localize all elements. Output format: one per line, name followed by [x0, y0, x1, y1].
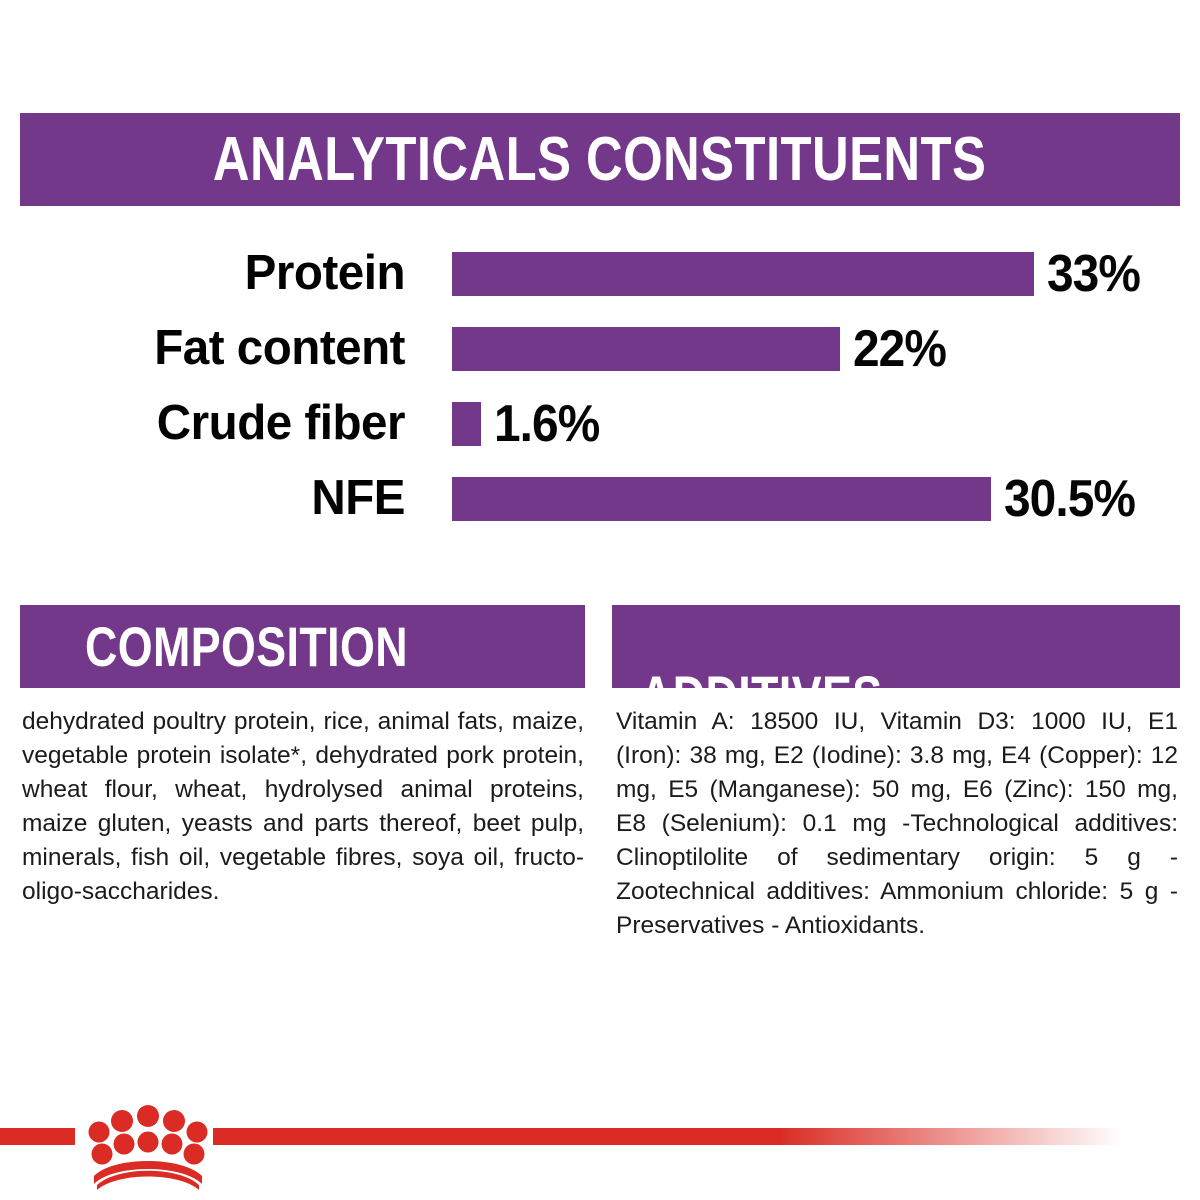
bar-zone: 1.6%	[452, 394, 609, 454]
bar-zone: 30.5%	[452, 469, 1146, 529]
analyticals-constituents-title: ANALYTICALS CONSTITUENTS	[213, 124, 986, 195]
composition-header: COMPOSITION	[20, 605, 585, 688]
bar-label-crude-fiber: Crude fiber	[12, 399, 405, 448]
bar-protein	[452, 252, 1034, 296]
bar-nfe	[452, 477, 991, 521]
analyticals-bar-chart: Protein 33% Fat content 22% Crude fiber …	[0, 236, 1200, 536]
footer-brand-strip	[0, 1108, 1200, 1200]
analyticals-constituents-header: ANALYTICALS CONSTITUENTS	[20, 113, 1180, 206]
chart-row: Crude fiber 1.6%	[0, 386, 1200, 461]
bar-value-fat-content: 22%	[853, 319, 946, 379]
bar-value-crude-fiber: 1.6%	[494, 394, 599, 454]
bar-label-fat-content: Fat content	[12, 324, 405, 373]
bar-zone: 22%	[452, 319, 954, 379]
bar-label-nfe: NFE	[12, 474, 405, 523]
bar-fat-content	[452, 327, 840, 371]
additives-body-text: Vitamin A: 18500 IU, Vitamin D3: 1000 IU…	[616, 705, 1178, 943]
bar-value-nfe: 30.5%	[1004, 469, 1135, 529]
royal-canin-crown-icon	[84, 1096, 212, 1192]
composition-title: COMPOSITION	[85, 614, 408, 679]
bar-label-protein: Protein	[12, 249, 405, 298]
bar-zone: 33%	[452, 244, 1148, 304]
chart-row: Protein 33%	[0, 236, 1200, 311]
additives-header: ADDITIVES (per kg)	[612, 605, 1180, 688]
footer-rule-left	[0, 1128, 75, 1145]
bar-crude-fiber	[452, 402, 481, 446]
chart-row: Fat content 22%	[0, 311, 1200, 386]
composition-body-text: dehydrated poultry protein, rice, animal…	[22, 705, 584, 909]
footer-rule-right	[213, 1128, 1123, 1145]
chart-row: NFE 30.5%	[0, 461, 1200, 536]
bar-value-protein: 33%	[1047, 244, 1140, 304]
